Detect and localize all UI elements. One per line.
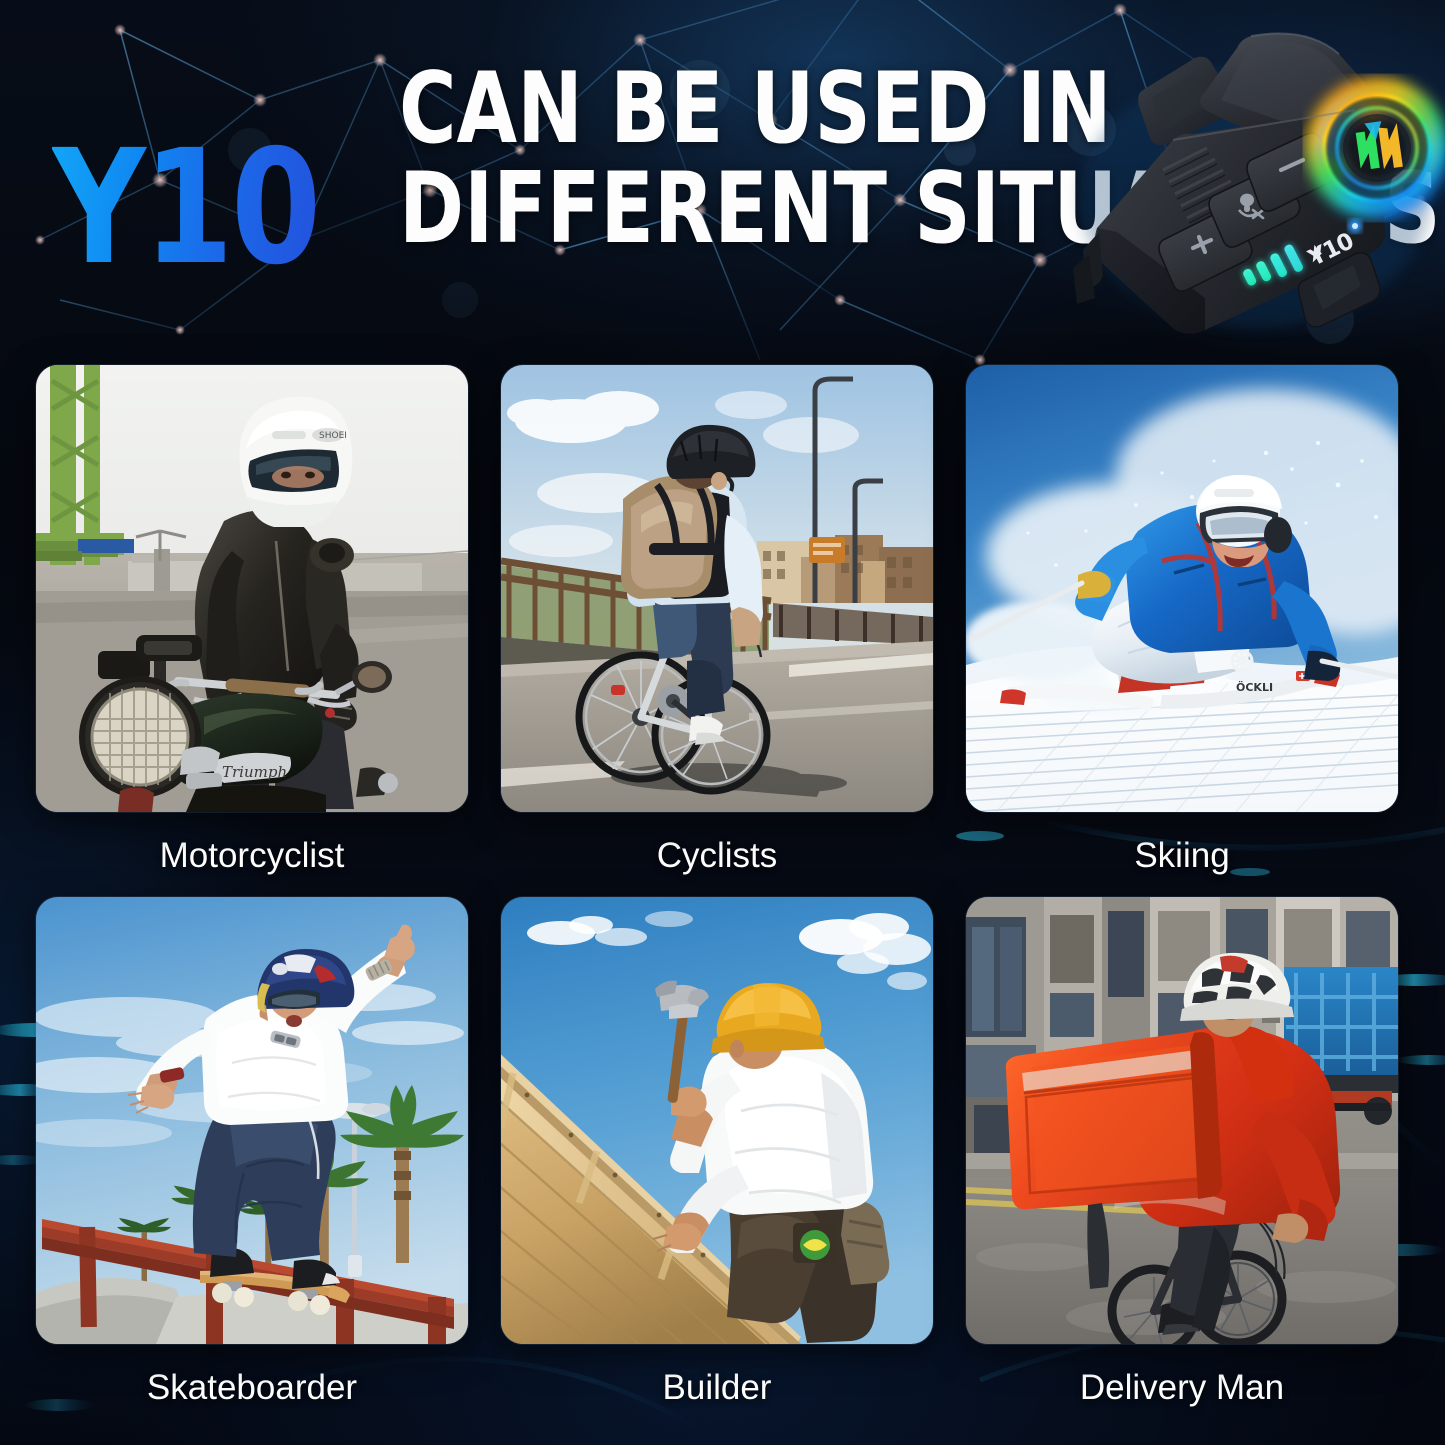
svg-text:SHOEI: SHOEI — [319, 431, 347, 441]
caption-builder: Builder — [501, 1344, 933, 1418]
situation-card-cyclists[interactable]: Cyclists — [501, 365, 933, 886]
situations-grid: SHOEI — [36, 365, 1398, 1417]
caption-skiing: Skiing — [966, 812, 1398, 886]
caption-cyclists: Cyclists — [501, 812, 933, 886]
situation-card-motorcyclist[interactable]: SHOEI — [36, 365, 468, 886]
poster-canvas: Y10 CAN BE USED IN DIFFERENT SITUATIONS — [0, 0, 1445, 1445]
photo-delivery-man — [966, 897, 1398, 1344]
situation-card-delivery-man[interactable]: Delivery Man — [966, 897, 1398, 1418]
product-name-y10: Y10 — [52, 144, 319, 274]
svg-text:ÖCKLI: ÖCKLI — [1236, 680, 1273, 694]
caption-motorcyclist: Motorcyclist — [36, 812, 468, 886]
caption-delivery-man: Delivery Man — [966, 1344, 1398, 1418]
svg-text:Triumph: Triumph — [222, 763, 287, 781]
caption-skateboarder: Skateboarder — [36, 1344, 468, 1418]
photo-skateboarder — [36, 897, 468, 1344]
photo-builder — [501, 897, 933, 1344]
photo-skiing: ÖCKLI — [966, 365, 1398, 812]
situation-card-skiing[interactable]: ÖCKLI — [966, 365, 1398, 886]
headline-block: Y10 CAN BE USED IN DIFFERENT SITUATIONS — [52, 62, 1132, 274]
product-device-image: Y10 — [1055, 18, 1445, 358]
photo-motorcyclist: SHOEI — [36, 365, 468, 812]
situation-card-builder[interactable]: Builder — [501, 897, 933, 1418]
photo-cyclists — [501, 365, 933, 812]
situation-card-skateboarder[interactable]: Skateboarder — [36, 897, 468, 1418]
